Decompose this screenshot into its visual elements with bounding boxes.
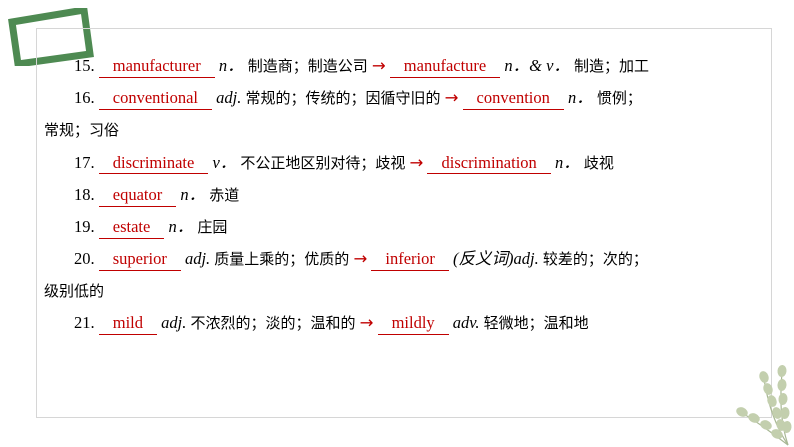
vocabulary-word: manufacturer: [99, 57, 215, 78]
derived-part-of-speech: n．& v．: [504, 56, 570, 75]
derived-meaning-text: 歧视: [584, 154, 614, 172]
derived-part-of-speech: adv.: [453, 313, 480, 332]
arrow-icon: →: [372, 56, 386, 75]
derived-meaning-text: 惯例；: [597, 89, 642, 107]
derived-part-of-speech: (反义词)adj.: [453, 249, 539, 268]
wrapped-meaning-text: 常规；习俗: [44, 121, 119, 139]
list-item-wrap: 级别低的: [44, 275, 744, 307]
derived-part-of-speech: n．: [555, 153, 580, 172]
arrow-icon: →: [353, 249, 367, 268]
entry-number: 18.: [74, 185, 95, 204]
part-of-speech: adj.: [216, 88, 241, 107]
meaning-text: 不公正地区别对待；歧视: [240, 154, 405, 172]
part-of-speech: n．: [180, 185, 205, 204]
derived-meaning-text: 轻微地；温和地: [484, 314, 589, 332]
vocabulary-word: estate: [99, 218, 165, 239]
derived-word: convention: [463, 89, 564, 110]
derived-word: mildly: [378, 314, 449, 335]
derived-word: discrimination: [427, 154, 550, 175]
list-item: 18. equator n． 赤道: [44, 179, 744, 211]
entry-number: 21.: [74, 313, 95, 332]
derived-meaning-text: 制造；加工: [574, 57, 649, 75]
part-of-speech: adj.: [185, 249, 210, 268]
slide-canvas: 15. manufacturer n． 制造商；制造公司 → manufactu…: [0, 0, 794, 447]
meaning-text: 赤道: [209, 186, 239, 204]
entry-number: 19.: [74, 217, 95, 236]
vocabulary-word: conventional: [99, 89, 212, 110]
meaning-text: 制造商；制造公司: [248, 57, 368, 75]
list-item: 16. conventional adj. 常规的；传统的；因循守旧的 → co…: [44, 82, 744, 114]
arrow-icon: →: [360, 313, 374, 332]
entry-number: 20.: [74, 249, 95, 268]
derived-word: manufacture: [390, 57, 500, 78]
entry-number: 16.: [74, 88, 95, 107]
part-of-speech: n．: [168, 217, 193, 236]
vocabulary-word: equator: [99, 186, 176, 207]
entry-number: 17.: [74, 153, 95, 172]
derived-meaning-text: 较差的；次的；: [543, 250, 648, 268]
meaning-text: 常规的；传统的；因循守旧的: [245, 89, 440, 107]
entry-number: 15.: [74, 56, 95, 75]
vocabulary-word: mild: [99, 314, 157, 335]
list-item-wrap: 常规；习俗: [44, 114, 744, 146]
part-of-speech: n．: [219, 56, 244, 75]
list-item: 15. manufacturer n． 制造商；制造公司 → manufactu…: [44, 50, 744, 82]
meaning-text: 庄园: [197, 218, 227, 236]
arrow-icon: →: [410, 153, 424, 172]
part-of-speech: v．: [212, 153, 236, 172]
arrow-icon: →: [445, 88, 459, 107]
wrapped-meaning-text: 级别低的: [44, 282, 104, 300]
part-of-speech: adj.: [161, 313, 186, 332]
derived-word: inferior: [371, 250, 448, 271]
meaning-text: 不浓烈的；淡的；温和的: [190, 314, 355, 332]
vocabulary-word: superior: [99, 250, 181, 271]
derived-part-of-speech: n．: [568, 88, 593, 107]
list-item: 20. superior adj. 质量上乘的；优质的 → inferior (…: [44, 243, 744, 275]
meaning-text: 质量上乘的；优质的: [214, 250, 349, 268]
list-item: 21. mild adj. 不浓烈的；淡的；温和的 → mildly adv. …: [44, 307, 744, 339]
vocabulary-word: discriminate: [99, 154, 209, 175]
list-item: 17. discriminate v． 不公正地区别对待；歧视 → discri…: [44, 147, 744, 179]
list-item: 19. estate n． 庄园: [44, 211, 744, 243]
vocabulary-list: 15. manufacturer n． 制造商；制造公司 → manufactu…: [44, 50, 744, 340]
